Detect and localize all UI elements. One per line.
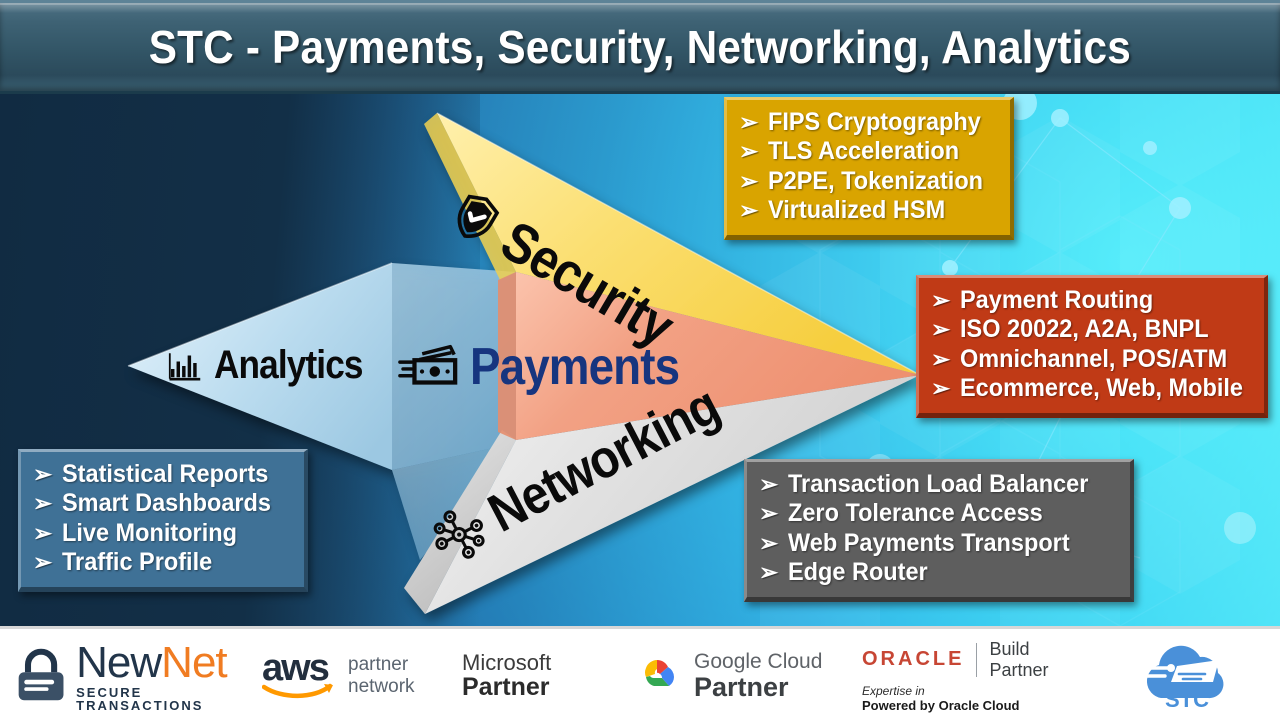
list-item: ➢Edge Router [759, 558, 1116, 587]
chevron-bullet-icon: ➢ [33, 492, 52, 515]
list-item: ➢Traffic Profile [33, 548, 290, 577]
list-item: ➢Statistical Reports [33, 460, 290, 489]
stc-label: STC [1165, 687, 1209, 712]
list-item: ➢P2PE, Tokenization [739, 167, 996, 196]
callout-networking[interactable]: ➢Transaction Load Balancer ➢Zero Toleran… [744, 459, 1134, 602]
chevron-bullet-icon: ➢ [931, 289, 950, 312]
chevron-bullet-icon: ➢ [33, 463, 52, 486]
aws-wordmark: aws [262, 653, 336, 684]
list-item: ➢TLS Acceleration [739, 137, 996, 166]
newnet-word-new: New [76, 638, 161, 687]
padlock-card-icon [14, 646, 68, 706]
chevron-bullet-icon: ➢ [931, 318, 950, 341]
oracle-partner-level: Build Partner [989, 639, 1048, 679]
newnet-tagline: SECURE TRANSACTIONS [76, 686, 262, 712]
logo-oracle-build-partner: ORACLE Build Partner Expertise in Powere… [862, 639, 1112, 712]
callout-security[interactable]: ➢FIPS Cryptography ➢TLS Acceleration ➢P2… [724, 97, 1014, 240]
callout-payments[interactable]: ➢Payment Routing ➢ISO 20022, A2A, BNPL ➢… [916, 275, 1268, 418]
logo-google-cloud-partner: Google Cloud Partner [632, 650, 862, 703]
chevron-bullet-icon: ➢ [931, 348, 950, 371]
google-cloud-word: Google Cloud [694, 650, 822, 673]
bar-chart-icon [168, 348, 204, 384]
chevron-bullet-icon: ➢ [33, 551, 52, 574]
list-item: ➢Smart Dashboards [33, 489, 290, 518]
slide-canvas: STC - Payments, Security, Networking, An… [0, 0, 1280, 720]
logo-stc: STC [1112, 638, 1262, 714]
list-item: ➢Transaction Load Balancer [759, 470, 1116, 499]
list-item: ➢Web Payments Transport [759, 529, 1116, 558]
partner-logo-bar: NewNet SECURE TRANSACTIONS aws partner n… [0, 626, 1280, 720]
segment-label-analytics-text: Analytics [214, 343, 363, 388]
chevron-bullet-icon: ➢ [739, 111, 758, 134]
microsoft-partner-word: Partner [462, 674, 551, 701]
segment-label-payments-text: Payments [470, 337, 679, 397]
list-item: ➢Live Monitoring [33, 519, 290, 548]
google-partner-word: Partner [694, 673, 822, 703]
list-item: ➢FIPS Cryptography [739, 108, 996, 137]
list-item: ➢Payment Routing [931, 286, 1250, 315]
oracle-wordmark: ORACLE [862, 648, 964, 671]
chevron-bullet-icon: ➢ [759, 561, 778, 584]
stc-cloud-icon: STC [1135, 638, 1239, 714]
chevron-bullet-icon: ➢ [739, 170, 758, 193]
list-item: ➢Omnichannel, POS/ATM [931, 345, 1250, 374]
chevron-bullet-icon: ➢ [739, 199, 758, 222]
google-cloud-icon [632, 654, 682, 698]
chevron-bullet-icon: ➢ [759, 502, 778, 525]
list-item: ➢Ecommerce, Web, Mobile [931, 374, 1250, 403]
newnet-word-net: Net [161, 638, 226, 687]
logo-newnet: NewNet SECURE TRANSACTIONS [0, 641, 262, 712]
chevron-bullet-icon: ➢ [33, 522, 52, 545]
banknote-icon [398, 342, 460, 392]
oracle-expertise-label: Expertise in [862, 684, 925, 698]
list-item: ➢Virtualized HSM [739, 196, 996, 225]
divider [976, 643, 977, 677]
chevron-bullet-icon: ➢ [759, 473, 778, 496]
segment-label-analytics: Analytics [168, 343, 383, 388]
logo-microsoft-partner: Microsoft Partner [462, 651, 632, 702]
list-item: ➢ISO 20022, A2A, BNPL [931, 315, 1250, 344]
callout-analytics[interactable]: ➢Statistical Reports ➢Smart Dashboards ➢… [18, 449, 308, 592]
newnet-wordmark: NewNet SECURE TRANSACTIONS [76, 641, 262, 712]
chevron-bullet-icon: ➢ [739, 140, 758, 163]
chevron-bullet-icon: ➢ [759, 532, 778, 555]
list-item: ➢Zero Tolerance Access [759, 499, 1116, 528]
oracle-expertise-value: Powered by Oracle Cloud [862, 698, 1020, 713]
microsoft-word: Microsoft [462, 651, 551, 675]
logo-aws-partner-network: aws partner network [262, 653, 462, 699]
chevron-bullet-icon: ➢ [931, 377, 950, 400]
aws-partner-text: partner network [348, 654, 415, 698]
segment-label-payments: Payments [398, 337, 708, 397]
